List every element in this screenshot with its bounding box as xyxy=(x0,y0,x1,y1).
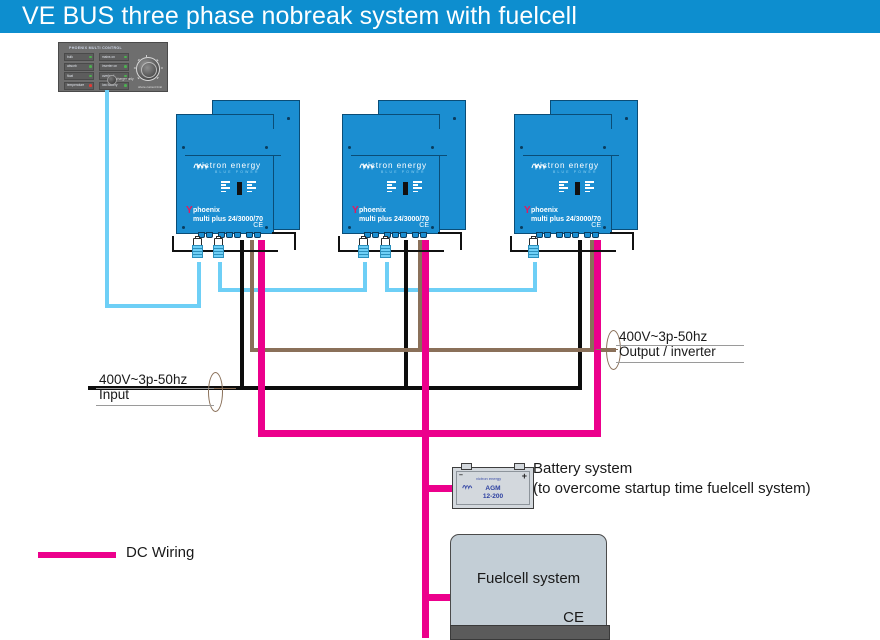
vebus-cable-inv3-drop xyxy=(533,262,537,292)
dc-wire-inv2 xyxy=(422,240,429,437)
status-label: inverter on xyxy=(102,64,117,68)
inverter-top-lid xyxy=(351,129,447,156)
knob-tick-icon xyxy=(146,55,147,57)
status-row: mains on xyxy=(99,53,129,61)
ac-output-bus xyxy=(250,348,616,352)
led-bar-icon xyxy=(413,187,422,189)
control-panel-title: PHOENIX MULTI CONTROL xyxy=(69,46,122,50)
status-led-icon xyxy=(89,84,92,87)
inverter-mount-foot xyxy=(338,236,444,252)
knob-tick-icon xyxy=(134,68,136,69)
vebus-cable-panel-drop xyxy=(105,90,109,308)
led-group-left xyxy=(387,181,396,196)
inverter-mount-bracket xyxy=(438,232,462,250)
status-led-icon xyxy=(89,56,92,59)
rj45-plug xyxy=(192,238,201,260)
ac-input-leg-inv1 xyxy=(240,240,244,388)
status-label: bulk xyxy=(67,55,73,59)
battery-type: AGM xyxy=(453,485,533,492)
status-label: float xyxy=(67,74,73,78)
screw-icon xyxy=(431,226,434,229)
input-callout-rule xyxy=(96,405,214,406)
inverter-top-lid xyxy=(523,129,619,156)
led-bar-icon xyxy=(247,184,252,186)
ac-input-leg-inv2 xyxy=(404,240,408,388)
series-name: phoenix xyxy=(531,207,558,214)
screw-icon xyxy=(348,226,351,229)
phoenix-mark-icon: Y xyxy=(186,205,193,216)
output-callout-line1: 400V~3p-50hz xyxy=(619,329,707,344)
output-callout-line xyxy=(596,349,618,350)
knob-tick-icon xyxy=(137,76,140,79)
vebus-cable-inv1-a-drop xyxy=(197,262,201,308)
inverter-unit-3[interactable]: victron energy BLUE POWER Y phoenix mult… xyxy=(506,100,636,250)
led-indicator-panel xyxy=(559,181,603,197)
series-name: phoenix xyxy=(359,207,386,214)
led-display-block xyxy=(575,182,580,195)
battery-unit[interactable]: – + victron energy AGM 12-200 xyxy=(452,467,534,509)
led-bar-icon xyxy=(585,181,594,183)
led-display-block xyxy=(403,182,408,195)
status-label: mains on xyxy=(102,55,115,59)
inverter-front-panel: victron energy BLUE POWER Y phoenix mult… xyxy=(342,114,440,234)
led-bar-icon xyxy=(413,181,422,183)
battery-terminal-positive-icon xyxy=(514,463,525,470)
brand-tagline: BLUE POWER xyxy=(553,170,598,174)
brand-tagline: BLUE POWER xyxy=(215,170,260,174)
shore-current-limit-knob[interactable] xyxy=(136,57,160,81)
rj45-plug xyxy=(358,238,367,260)
screw-icon xyxy=(265,146,268,149)
series-name: phoenix xyxy=(193,207,220,214)
output-callout-rule xyxy=(616,362,744,363)
dc-bus-horizontal xyxy=(258,430,601,437)
battery-minus-sign: – xyxy=(459,472,463,479)
battery-caption-line1: Battery system xyxy=(533,460,632,477)
led-bar-icon xyxy=(387,184,392,186)
inverter-unit-1[interactable]: victron energy BLUE POWER Y phoenix mult… xyxy=(168,100,298,250)
led-bar-icon xyxy=(585,187,594,189)
status-led-icon xyxy=(124,84,127,87)
screw-icon xyxy=(182,146,185,149)
output-callout-line2: Output / inverter xyxy=(619,345,716,360)
ce-mark: CE xyxy=(419,222,429,229)
screw-icon xyxy=(348,146,351,149)
knob-tick-icon xyxy=(137,59,140,62)
status-row: float xyxy=(64,72,94,80)
input-callout-line1: 400V~3p-50hz xyxy=(99,372,187,387)
vebus-cable-panel-run xyxy=(105,304,201,308)
inverter-front-panel: victron energy BLUE POWER Y phoenix mult… xyxy=(514,114,612,234)
input-callout: 400V~3p-50hz Input xyxy=(99,373,187,402)
battery-caption: Battery system (to overcome startup time… xyxy=(533,459,811,499)
dc-wire-inv3 xyxy=(594,240,601,437)
screw-icon xyxy=(603,146,606,149)
status-row: absorb xyxy=(64,63,94,71)
status-led-column-right: mains on inverter on overload low batter… xyxy=(99,53,129,91)
battery-terminal-negative-icon xyxy=(461,463,472,470)
knob-tick-icon xyxy=(156,76,159,79)
led-bar-icon xyxy=(247,191,252,193)
status-led-icon xyxy=(89,65,92,68)
brand-tagline: BLUE POWER xyxy=(381,170,426,174)
input-callout-line xyxy=(214,388,236,389)
led-bar-icon xyxy=(585,184,590,186)
led-indicator-panel xyxy=(387,181,431,197)
dc-bus-drop-to-fuelcell xyxy=(422,430,429,638)
inverter-mount-foot xyxy=(510,236,616,252)
status-led-icon xyxy=(124,65,127,68)
fuelcell-label: Fuelcell system xyxy=(451,570,606,587)
led-bar-icon xyxy=(387,191,392,193)
led-bar-icon xyxy=(247,181,256,183)
status-led-column-left: bulk absorb float temperature xyxy=(64,53,94,91)
status-label: absorb xyxy=(67,64,77,68)
led-group-right xyxy=(247,181,256,196)
led-bar-icon xyxy=(559,187,568,189)
dc-wire-inv1 xyxy=(258,240,265,437)
inverter-unit-2[interactable]: victron energy BLUE POWER Y phoenix mult… xyxy=(334,100,464,250)
led-bar-icon xyxy=(387,187,396,189)
led-group-left xyxy=(221,181,230,196)
status-label: temperature xyxy=(67,83,84,87)
inverter-top-lid xyxy=(185,129,281,156)
knob-inner xyxy=(141,62,157,78)
led-bar-icon xyxy=(559,184,564,186)
led-bar-icon xyxy=(585,191,590,193)
ce-mark: CE xyxy=(591,222,601,229)
led-indicator-panel xyxy=(221,181,265,197)
status-row: temperature xyxy=(64,82,94,90)
control-panel-body: bulk absorb float temperature mains on xyxy=(63,53,163,88)
status-led-icon xyxy=(89,75,92,78)
led-group-left xyxy=(559,181,568,196)
ac-input-leg-inv3 xyxy=(578,240,582,388)
led-bar-icon xyxy=(221,181,230,183)
led-bar-icon xyxy=(221,184,226,186)
inverter-mount-bracket xyxy=(610,232,634,250)
screw-icon xyxy=(520,146,523,149)
page-title: VE BUS three phase nobreak system with f… xyxy=(22,2,577,31)
inverter-front-panel: victron energy BLUE POWER Y phoenix mult… xyxy=(176,114,274,234)
rj45-plug xyxy=(213,238,222,260)
screw-icon xyxy=(520,226,523,229)
legend-dc-label: DC Wiring xyxy=(126,544,194,561)
battery-plus-sign: + xyxy=(522,471,527,481)
rj45-plug xyxy=(528,238,537,260)
status-row: inverter on xyxy=(99,63,129,71)
rj45-plug xyxy=(380,238,389,260)
legend-dc-swatch xyxy=(38,552,116,558)
led-bar-icon xyxy=(413,191,418,193)
shore-current-limit-label: shore current limit xyxy=(138,85,162,89)
led-group-right xyxy=(413,181,422,196)
input-callout-line2: Input xyxy=(99,388,187,403)
phoenix-mark-icon: Y xyxy=(524,205,531,216)
fuelcell-ce-mark: CE xyxy=(563,609,584,626)
charger-only-label: charger only xyxy=(116,77,134,81)
status-led-icon xyxy=(124,56,127,59)
screw-icon xyxy=(625,117,628,120)
screw-icon xyxy=(431,146,434,149)
led-display-block xyxy=(237,182,242,195)
ce-mark: CE xyxy=(253,222,263,229)
status-row: bulk xyxy=(64,53,94,61)
phoenix-mark-icon: Y xyxy=(352,205,359,216)
inverter-mount-bracket xyxy=(272,232,296,250)
battery-caption-line2: (to overcome startup time fuelcell syste… xyxy=(533,479,811,499)
led-bar-icon xyxy=(247,187,256,189)
screw-icon xyxy=(603,226,606,229)
ac-output-leg-inv1 xyxy=(250,240,254,350)
screw-icon xyxy=(182,226,185,229)
led-bar-icon xyxy=(221,187,230,189)
led-bar-icon xyxy=(387,181,396,183)
title-bar: VE BUS three phase nobreak system with f… xyxy=(0,0,880,33)
led-group-right xyxy=(585,181,594,196)
phoenix-multi-control-panel[interactable]: PHOENIX MULTI CONTROL bulk absorb float … xyxy=(58,42,168,92)
screw-icon xyxy=(265,226,268,229)
led-bar-icon xyxy=(221,191,226,193)
input-callout-connector xyxy=(208,372,223,412)
battery-brand: victron energy xyxy=(476,476,501,481)
screw-icon xyxy=(453,117,456,120)
screw-icon xyxy=(287,117,290,120)
led-bar-icon xyxy=(559,191,564,193)
vebus-cable-inv2-a-drop xyxy=(363,262,367,292)
battery-model: 12-200 xyxy=(453,493,533,500)
led-bar-icon xyxy=(413,184,418,186)
output-callout: 400V~3p-50hz Output / inverter xyxy=(619,330,716,359)
knob-tick-icon xyxy=(160,68,162,69)
led-bar-icon xyxy=(559,181,568,183)
inverter-mount-foot xyxy=(172,236,278,252)
knob-tick-icon xyxy=(156,59,159,62)
